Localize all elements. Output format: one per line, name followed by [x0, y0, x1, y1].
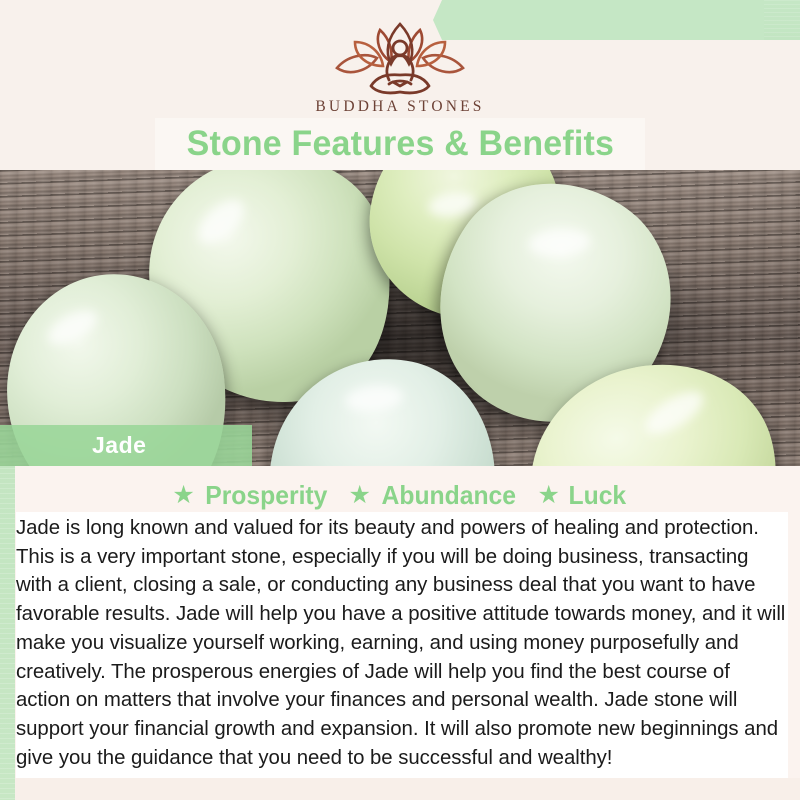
brand-name: BUDDHA STONES [0, 98, 800, 116]
footer-strip [15, 778, 800, 800]
benefits-row: ★ Prosperity ★ Abundance ★ Luck [15, 478, 785, 512]
star-icon: ★ [537, 483, 559, 508]
star-icon: ★ [172, 483, 194, 508]
page-title: Stone Features & Benefits [186, 124, 613, 164]
stone-name-band: Jade [0, 425, 252, 466]
benefit-label: Luck [568, 480, 626, 511]
section-title-band: Stone Features & Benefits [155, 118, 645, 170]
infographic-card: BUDDHA STONES Stone Features & Benefits … [0, 0, 800, 800]
benefit-label: Abundance [381, 480, 515, 511]
benefit-label: Prosperity [205, 480, 327, 511]
benefit-item: ★ Prosperity [172, 480, 330, 511]
description-block: Jade is long known and valued for its be… [16, 512, 788, 778]
star-icon: ★ [348, 483, 370, 508]
benefit-item: ★ Luck [537, 480, 627, 511]
decorative-green-top-right [424, 0, 800, 40]
jade-stones-photo [0, 170, 800, 466]
benefit-item: ★ Abundance [348, 480, 519, 511]
stone-name: Jade [92, 432, 146, 459]
description-text: Jade is long known and valued for its be… [16, 514, 788, 772]
